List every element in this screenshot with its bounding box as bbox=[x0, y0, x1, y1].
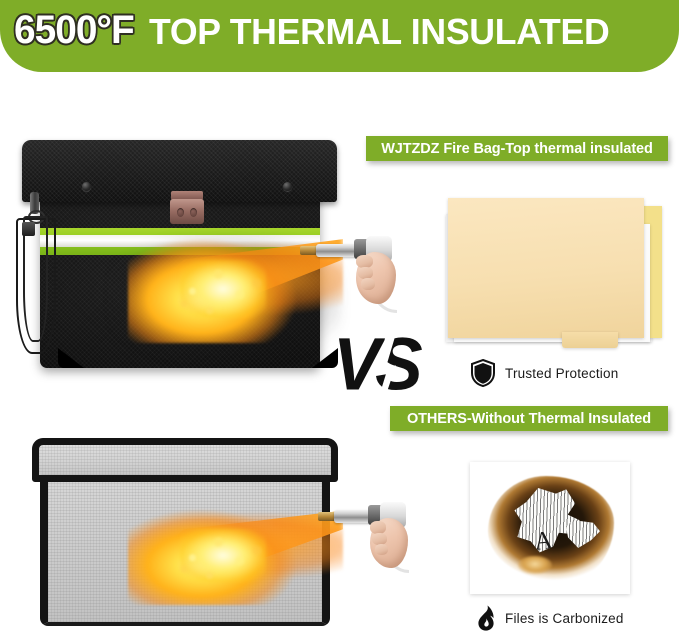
finger-3 bbox=[375, 544, 388, 555]
badge-files-carbonized: Files is Carbonized bbox=[476, 605, 624, 631]
intact-document-stack bbox=[440, 196, 666, 348]
gray-bag-flap-texture bbox=[39, 445, 331, 475]
strap-slider bbox=[22, 222, 35, 236]
versus-graphic: VS bbox=[333, 321, 435, 413]
ember-glow bbox=[518, 556, 552, 574]
gray-fire-bag bbox=[26, 438, 344, 626]
clasp-rivet-right bbox=[190, 208, 197, 217]
header-temperature: 6500°F bbox=[14, 10, 134, 50]
snap-button-right bbox=[283, 182, 292, 191]
snap-button-left bbox=[82, 182, 91, 191]
header-banner: 6500°F TOP THERMAL INSULATED bbox=[0, 0, 679, 72]
metal-clasp-lock bbox=[170, 191, 204, 224]
badge-files-carbonized-label: Files is Carbonized bbox=[505, 611, 624, 626]
versus-label: VS bbox=[333, 327, 417, 401]
badge-trusted-protection-label: Trusted Protection bbox=[505, 366, 618, 381]
label-top-thermal-insulated: WJTZDZ Fire Bag-Top thermal insulated bbox=[366, 136, 668, 161]
wrist-strap bbox=[10, 192, 60, 357]
flame-icon bbox=[476, 605, 496, 631]
finger-3 bbox=[361, 278, 375, 290]
black-fire-bag bbox=[22, 140, 337, 368]
gray-bag-flap bbox=[32, 438, 338, 482]
clasp-body bbox=[170, 199, 204, 224]
blowtorch-bottom bbox=[318, 492, 418, 598]
badge-trusted-protection: Trusted Protection bbox=[470, 359, 618, 387]
reflective-stripe-white bbox=[40, 235, 320, 247]
label-bottom-text: OTHERS-Without Thermal Insulated bbox=[407, 411, 651, 427]
gray-bag-body bbox=[40, 474, 330, 626]
label-top-text: WJTZDZ Fire Bag-Top thermal insulated bbox=[381, 141, 653, 157]
gray-bag-texture bbox=[48, 474, 322, 622]
shield-icon bbox=[470, 359, 496, 387]
page-title: TOP THERMAL INSULATED bbox=[149, 14, 609, 50]
document-folder-tab bbox=[562, 332, 618, 348]
document-folder-manila bbox=[448, 198, 644, 338]
burned-document-stack: A bbox=[470, 462, 630, 594]
clasp-rivet-left bbox=[177, 208, 184, 217]
